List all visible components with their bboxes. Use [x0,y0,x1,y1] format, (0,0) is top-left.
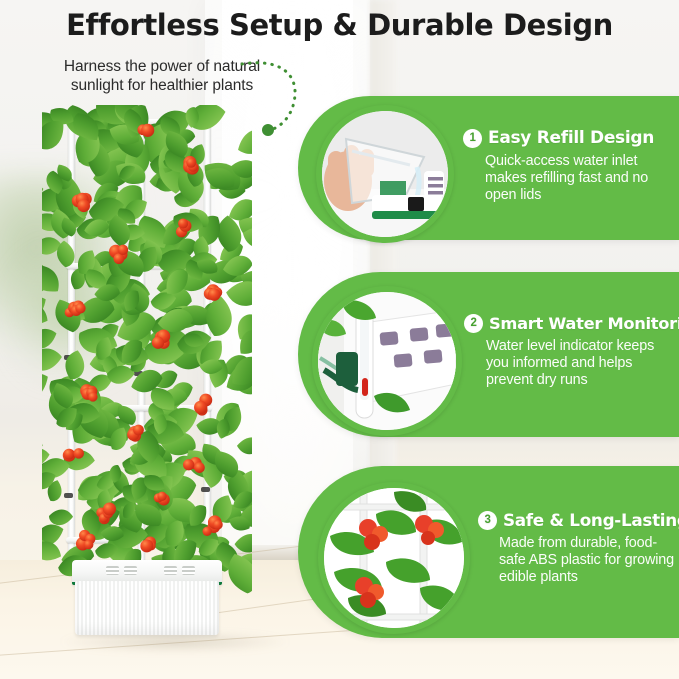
feature-2-thumbnail-image [318,292,456,430]
planter-reservoir [72,560,222,635]
feature-panel-2: 2 Smart Water Monitoring Water level ind… [298,272,679,437]
feature-2-title-row: 2 Smart Water Monitoring [464,314,677,333]
feature-2-body: Water level indicator keeps you informed… [486,338,677,389]
feature-panel-3: 3 Safe & Long-Lasting Made from durable,… [298,466,679,638]
feature-2-title: Smart Water Monitoring [489,314,679,333]
feature-3-thumbnail [318,482,470,634]
planter-lid-vent [182,566,195,575]
feature-2-number-badge: 2 [464,314,483,333]
product-grow-tower [42,105,252,650]
feature-3-text: 3 Safe & Long-Lasting Made from durable,… [478,510,677,586]
feature-1-thumbnail [316,105,454,243]
feature-3-title: Safe & Long-Lasting [503,510,679,530]
planter-lid-vent [164,566,177,575]
feature-3-thumbnail-image [324,488,464,628]
feature-panel-1: 1 Easy Refill Design Quick-access water … [298,96,679,240]
feature-1-title-row: 1 Easy Refill Design [463,128,679,148]
feature-3-body: Made from durable, food-safe ABS plastic… [499,535,677,586]
feature-2-text: 2 Smart Water Monitoring Water level ind… [464,314,677,389]
planter-lid-vent [106,566,119,575]
feature-1-title: Easy Refill Design [488,128,654,148]
infographic-stage: Effortless Setup & Durable Design Harnes… [0,0,679,679]
page-title: Effortless Setup & Durable Design [0,8,679,42]
feature-1-thumbnail-image [322,111,448,237]
feature-2-thumbnail [312,286,462,436]
feature-1-body: Quick-access water inlet makes refilling… [485,153,679,204]
feature-1-number-badge: 1 [463,129,482,148]
planter-lid-vent [124,566,137,575]
feature-3-title-row: 3 Safe & Long-Lasting [478,510,677,530]
feature-1-text: 1 Easy Refill Design Quick-access water … [463,128,679,204]
planter-body [75,581,219,635]
feature-3-number-badge: 3 [478,511,497,530]
